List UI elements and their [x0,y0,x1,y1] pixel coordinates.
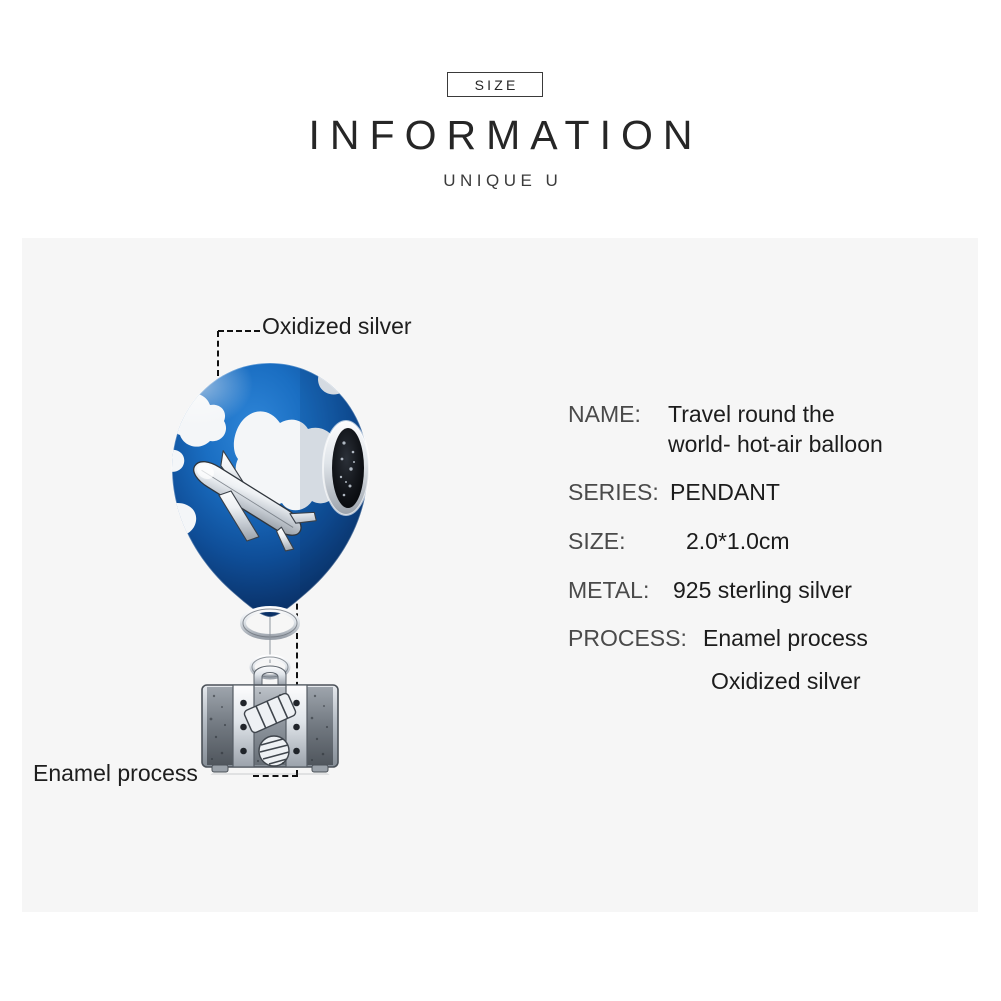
spec-value-series: PENDANT [670,478,980,508]
spec-row-process: PROCESS: Enamel processOxidized silver [568,624,980,697]
spec-value-metal: 925 sterling silver [673,576,980,606]
page-subtitle: UNIQUE U [0,172,1001,189]
product-image-hot-air-balloon-charm [150,355,390,775]
spec-label-name: NAME: [568,400,658,430]
spec-row-name: NAME: Travel round theworld- hot-air bal… [568,400,980,460]
spec-value-name-line2: world- hot-air balloon [668,430,980,460]
spec-row-series: SERIES: PENDANT [568,478,980,508]
spec-label-process: PROCESS: [568,624,693,654]
size-badge: SIZE [447,72,543,97]
spec-value-process-line1: Enamel process [703,625,868,651]
spec-label-size: SIZE: [568,527,676,557]
spec-value-name-line1: Travel round the [668,401,835,427]
spec-value-name: Travel round theworld- hot-air balloon [668,400,980,460]
silver-loop [243,609,297,685]
spec-label-series: SERIES: [568,478,660,508]
annotation-label-oxidized-silver: Oxidized silver [262,315,412,338]
bead-hole [323,421,369,515]
oxidized-silver-leader-horizontal [218,330,260,332]
enamel-process-leader-horizontal [253,775,298,777]
spec-value-process: Enamel processOxidized silver [703,624,980,697]
spec-value-size: 2.0*1.0cm [686,527,980,557]
spec-label-metal: METAL: [568,576,663,606]
size-badge-label: SIZE [471,77,518,93]
page-header: SIZE INFORMATION UNIQUE U [0,0,1001,236]
page-title: INFORMATION [0,115,1001,156]
spec-value-process-line2: Oxidized silver [711,667,980,697]
spec-row-size: SIZE: 2.0*1.0cm [568,527,980,557]
spec-row-metal: METAL: 925 sterling silver [568,576,980,606]
product-spec-list: NAME: Travel round theworld- hot-air bal… [568,400,980,710]
suitcase-charm [202,685,338,775]
